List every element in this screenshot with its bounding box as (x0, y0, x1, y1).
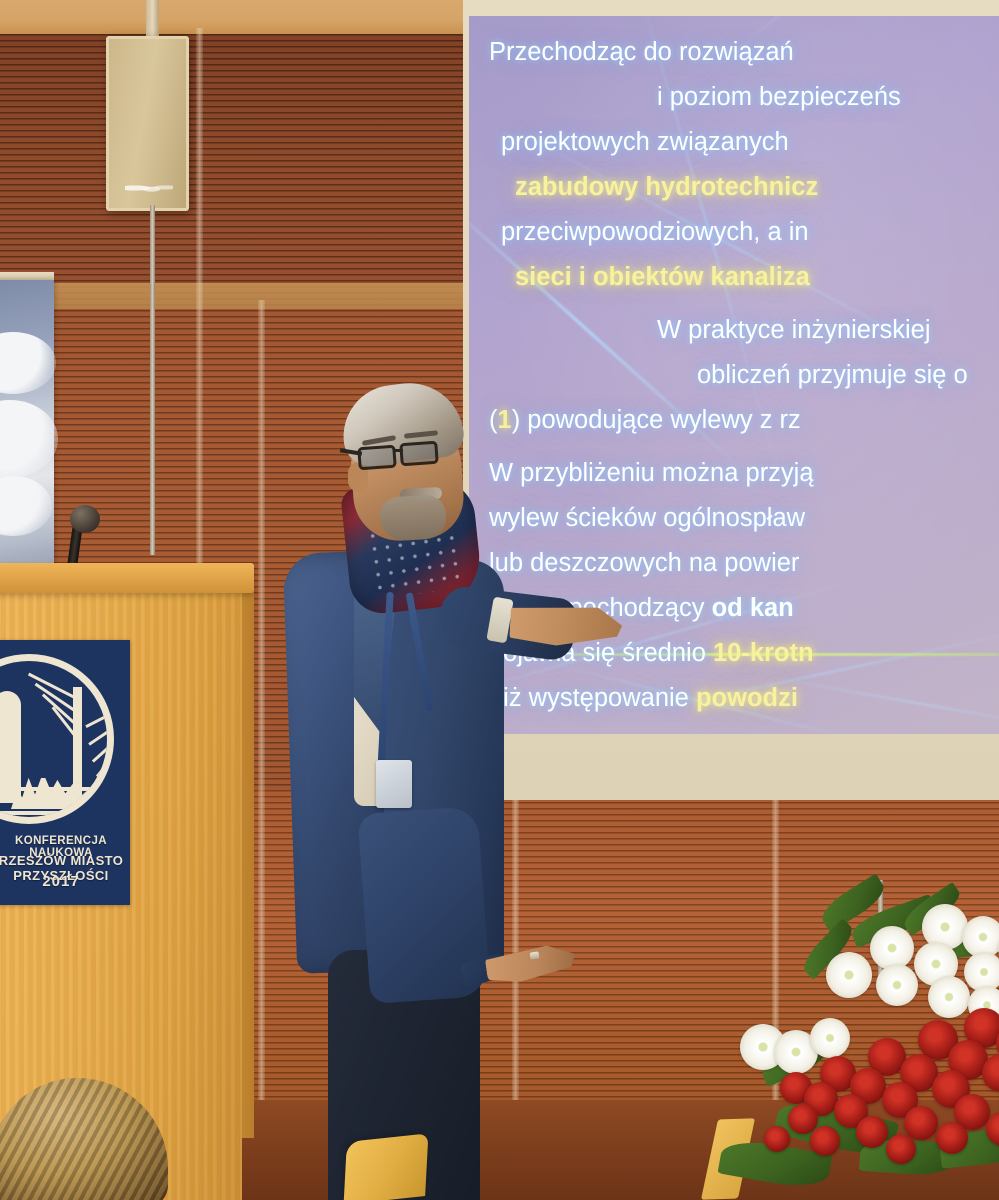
wall-seam (258, 300, 265, 1180)
red-flower (936, 1122, 968, 1154)
slide-line: sieci i obiektów kanaliza (479, 255, 999, 300)
slide-text-run: i poziom bezpieczeńs (657, 83, 901, 111)
red-flower (856, 1116, 888, 1148)
logo-water-line (0, 787, 103, 791)
slide-text-run: sieci i obiektów kanaliza (515, 263, 810, 291)
pa-speaker-brand-icon (125, 182, 173, 194)
logo-water-line (0, 799, 97, 803)
logo-water-line (0, 811, 89, 815)
slide-line: i poziom bezpieczeńs (479, 75, 999, 120)
eyeglasses-lens (399, 441, 439, 467)
slide-line: W praktyce inżynierskiej (479, 308, 999, 353)
podium-top-ledge (0, 563, 254, 593)
slide-text-run: zabudowy hydrotechnicz (515, 173, 818, 201)
logo-emblem-circle (0, 654, 114, 824)
banner-cloud-shape (0, 400, 58, 478)
conference-photo-scene: Przechodząc do rozwiązańi poziom bezpiec… (0, 0, 999, 1200)
red-flower (810, 1126, 840, 1156)
slide-text-run: przeciwpowodziowych, a in (501, 218, 809, 246)
slide-line: przeciwpowodziowych, a in (479, 210, 999, 255)
slide-line: zabudowy hydrotechnicz (479, 165, 999, 210)
slide-line: Przechodząc do rozwiązań (479, 30, 999, 75)
wooden-chair-back (344, 1133, 429, 1200)
eyeglasses-lens (357, 445, 397, 471)
slide-text-run: 10-krotn (713, 639, 814, 667)
logo-bridge-cable (96, 741, 114, 778)
slide-text-run: od kan (712, 594, 794, 622)
slide-text-run: powodzi (696, 684, 798, 712)
floral-arrangement (700, 890, 999, 1200)
slide-text-run: W praktyce inżynierskiej (657, 316, 931, 344)
conference-logo-panel: KONFERENCJA NAUKOWA RZESZÓW MIASTO PRZYS… (0, 640, 130, 905)
white-flower (826, 952, 872, 998)
slide-line: projektowych związanych (479, 120, 999, 165)
white-flower (876, 964, 918, 1006)
pa-speaker (106, 36, 189, 211)
white-flower (810, 1018, 850, 1058)
eyeglasses-bridge (395, 449, 403, 452)
microphone-head (70, 505, 100, 533)
red-flower (904, 1106, 938, 1140)
white-flower (928, 976, 970, 1018)
slide-text-run: projektowych związanych (501, 128, 789, 156)
red-flower (886, 1134, 916, 1164)
logo-bridge-cable (85, 699, 114, 728)
finger-ring (530, 951, 540, 959)
roll-up-banner (0, 280, 54, 580)
slide-text-run: obliczeń przyjmuje się o (697, 361, 968, 389)
banner-cloud-shape (0, 476, 52, 536)
presenter (280, 370, 610, 1200)
logo-line-3: 2017 (0, 873, 130, 890)
conference-badge (376, 760, 412, 808)
red-flower (764, 1126, 790, 1152)
mic-stand-pole (150, 205, 155, 555)
beard (379, 494, 447, 541)
slide-paragraph: Przechodząc do rozwiązańi poziom bezpiec… (479, 30, 999, 300)
slide-text-run: Przechodząc do rozwiązań (489, 38, 794, 66)
pa-speaker-mount (146, 0, 159, 40)
banner-cloud-shape (0, 332, 56, 394)
